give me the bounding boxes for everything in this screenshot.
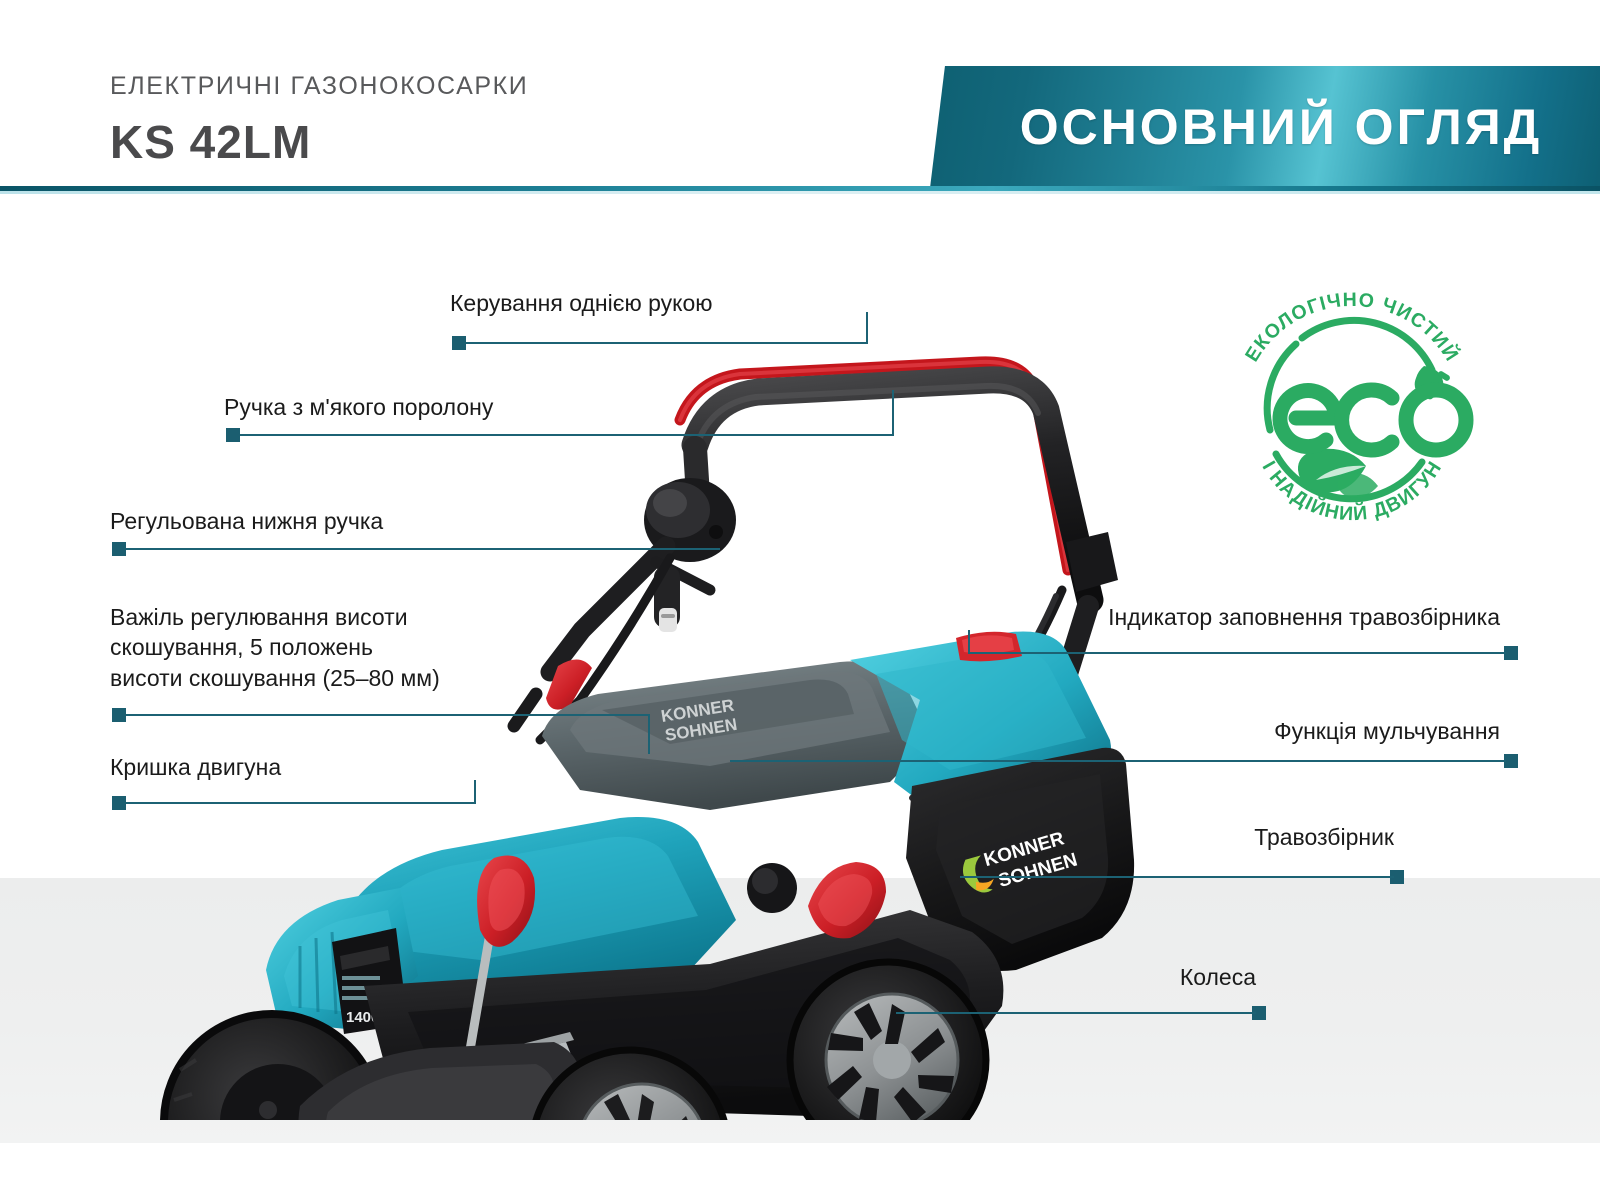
page-header: ЕЛЕКТРИЧНІ ГАЗОНОКОСАРКИ KS 42LM ОСНОВНИ…: [0, 0, 1600, 190]
callout-drop-cutting-height-lever: [648, 714, 650, 754]
callout-drop-bag-fill-indicator: [968, 630, 970, 654]
eco-wordmark: [1280, 390, 1466, 450]
mulching-lever: [747, 862, 886, 938]
callout-line-motor-cover: [126, 802, 476, 804]
callout-label: Ручка з м'якого поролону: [224, 392, 493, 422]
callout-foam-grip[interactable]: Ручка з м'якого поролону: [224, 392, 493, 422]
grass-box: KONNER SOHNEN: [542, 661, 932, 810]
callout-one-hand-control[interactable]: Керування однією рукою: [450, 288, 713, 318]
eco-badge: ЕКОЛОГІЧНО ЧИСТИЙ І НАДІЙНИЙ ДВИГУН: [1218, 278, 1486, 546]
header-divider-highlight: [0, 191, 1600, 194]
callout-cutting-height-lever[interactable]: Важіль регулювання висоти скошування, 5 …: [110, 602, 440, 693]
callout-line-foam-grip: [240, 434, 894, 436]
callout-adjustable-lower-handle[interactable]: Регульована нижня ручка: [110, 506, 383, 536]
callout-bag-fill-indicator[interactable]: Індикатор заповнення травозбірника: [980, 602, 1500, 632]
callout-label: Регульована нижня ручка: [110, 506, 383, 536]
section-banner: ОСНОВНИЙ ОГЛЯД: [930, 66, 1600, 188]
callout-label: Індикатор заповнення травозбірника: [980, 602, 1500, 632]
lower-handle-left: [550, 546, 710, 672]
callout-line-grass-collector: [960, 876, 1394, 878]
callout-drop-motor-cover: [474, 780, 476, 804]
callout-marker-adjustable-lower-handle: [112, 542, 126, 556]
eco-arc-top-text: ЕКОЛОГІЧНО ЧИСТИЙ: [1241, 289, 1465, 366]
handle-assembly: [680, 362, 1090, 600]
callout-label: Функція мульчування: [980, 716, 1500, 746]
callout-label: Колеса: [936, 962, 1256, 992]
callout-line-wheels: [896, 1012, 1256, 1014]
callout-marker-mulching-function: [1504, 754, 1518, 768]
callout-label: Травозбірник: [974, 822, 1394, 852]
header-text-block: ЕЛЕКТРИЧНІ ГАЗОНОКОСАРКИ KS 42LM: [110, 72, 528, 169]
callout-line-cutting-height-lever: [126, 714, 650, 716]
callout-motor-cover[interactable]: Кришка двигуна: [110, 752, 281, 782]
callout-marker-motor-cover: [112, 796, 126, 810]
callout-grass-collector[interactable]: Травозбірник: [974, 822, 1394, 852]
callout-label: Кришка двигуна: [110, 752, 281, 782]
callout-line-bag-fill-indicator: [968, 652, 1506, 654]
callout-wheels[interactable]: Колеса: [936, 962, 1256, 992]
callout-label: Керування однією рукою: [450, 288, 713, 318]
callout-marker-one-hand-control: [452, 336, 466, 350]
callout-line-mulching-function: [730, 760, 1506, 762]
banner-title: ОСНОВНИЙ ОГЛЯД: [998, 98, 1543, 156]
callout-drop-foam-grip: [892, 390, 894, 436]
callout-marker-bag-fill-indicator: [1504, 646, 1518, 660]
category-kicker: ЕЛЕКТРИЧНІ ГАЗОНОКОСАРКИ: [110, 72, 528, 101]
callout-marker-cutting-height-lever: [112, 708, 126, 722]
callout-drop-one-hand-control: [866, 312, 868, 344]
model-title: KS 42LM: [110, 115, 528, 169]
callout-line-one-hand-control: [466, 342, 868, 344]
callout-label: Важіль регулювання висоти скошування, 5 …: [110, 602, 440, 693]
callout-mulching-function[interactable]: Функція мульчування: [980, 716, 1500, 746]
callout-marker-foam-grip: [226, 428, 240, 442]
callout-line-adjustable-lower-handle: [126, 548, 720, 550]
